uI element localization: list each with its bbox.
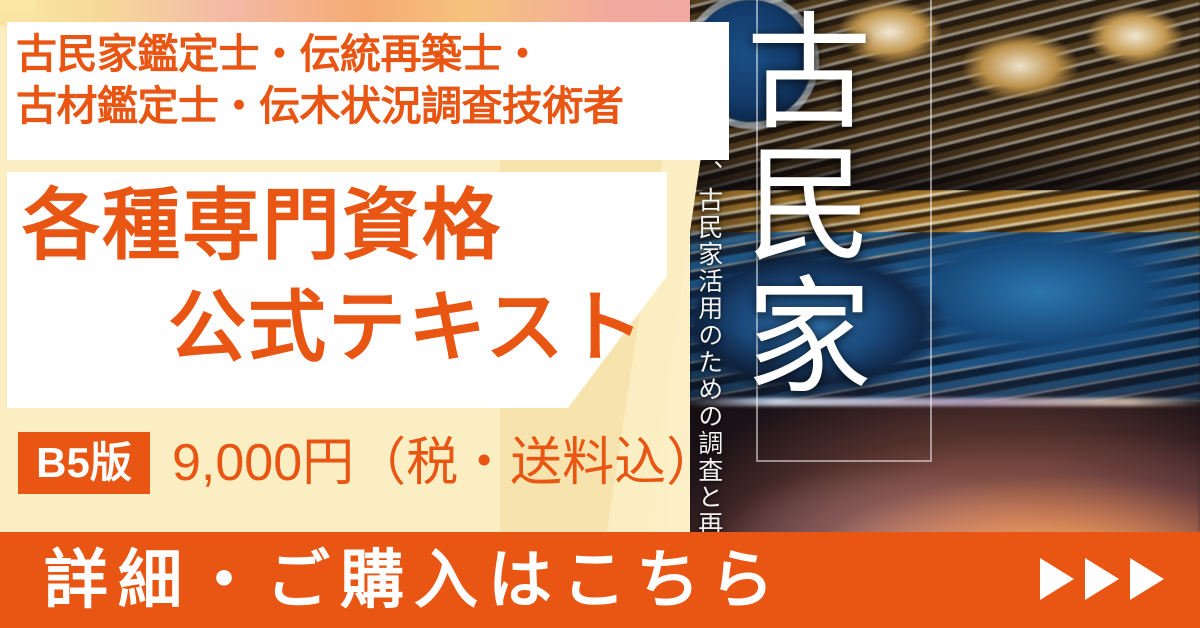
headline-line-2: 公式テキスト <box>168 288 646 366</box>
chevron-right-icon-1 <box>1040 558 1074 600</box>
chevron-right-icon-2 <box>1085 558 1119 600</box>
cta-bar[interactable]: 詳細・ご購入はこちら <box>0 532 1200 628</box>
price-text: 9,000円（税・送料込） <box>172 433 718 493</box>
qualifications-line-2: 古材鑑定士・伝木状況調査技術者 <box>16 80 722 132</box>
qualifications-line-1: 古民家鑑定士・伝統再築士・ <box>16 28 722 80</box>
size-badge: B5版 <box>18 432 150 494</box>
promo-banner: 伝統構法、古民家活用のための調査と再生の 古民家 古民家鑑定士・伝統再築士・ 古… <box>0 0 1200 628</box>
book-cover-title: 古民家 <box>752 6 872 402</box>
cta-label: 詳細・ご購入はこちら <box>44 544 784 616</box>
chevron-right-icon-3 <box>1130 558 1164 600</box>
headline-line-1: 各種専門資格 <box>22 186 502 264</box>
cta-arrow-group <box>1040 558 1164 600</box>
qualifications-text: 古民家鑑定士・伝統再築士・ 古材鑑定士・伝木状況調査技術者 <box>16 28 722 133</box>
